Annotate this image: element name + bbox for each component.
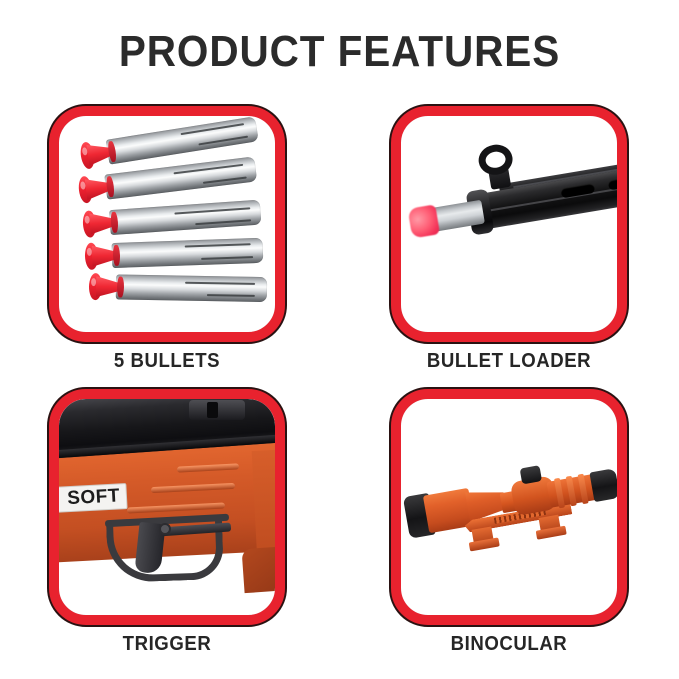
dart-tip-highlight bbox=[87, 248, 92, 256]
bullet-loader-illustration bbox=[401, 116, 617, 332]
dart-tip-ring bbox=[113, 245, 121, 266]
card-frame-trigger: SOFT bbox=[48, 388, 286, 626]
feature-label-bullets: 5 BULLETS bbox=[56, 350, 277, 373]
dart-suction-tip bbox=[85, 243, 120, 269]
feature-card-trigger[interactable]: SOFT TRIGGER bbox=[48, 388, 286, 656]
trigger-pivot-pin bbox=[159, 523, 171, 535]
binocular-illustration bbox=[401, 399, 617, 615]
feature-label-binocular: BINOCULAR bbox=[398, 633, 619, 656]
product-features-infographic: PRODUCT FEATURES bbox=[0, 0, 679, 679]
dart-shaft bbox=[116, 274, 267, 302]
dart-icon bbox=[85, 238, 264, 269]
card-inner-bullet-loader bbox=[401, 116, 617, 332]
trigger-illustration: SOFT bbox=[59, 399, 275, 615]
gun-bolt-notch bbox=[207, 402, 218, 418]
feature-card-bullet-loader[interactable]: BULLET LOADER bbox=[390, 105, 628, 373]
dart-suction-tip bbox=[79, 139, 116, 169]
card-frame-bullets bbox=[48, 105, 286, 343]
front-sight-ring-icon bbox=[476, 142, 514, 177]
dart-shaft bbox=[109, 200, 261, 235]
feature-card-binocular[interactable]: BINOCULAR bbox=[390, 388, 628, 656]
feature-label-bullet-loader: BULLET LOADER bbox=[398, 350, 619, 373]
soft-label-text: SOFT bbox=[67, 485, 121, 510]
feature-card-bullets[interactable]: 5 BULLETS bbox=[48, 105, 286, 373]
dart-suction-tip bbox=[77, 174, 114, 203]
rifle-scope-group bbox=[402, 452, 617, 551]
dart-icon bbox=[89, 274, 267, 302]
card-inner-trigger: SOFT bbox=[59, 399, 275, 615]
dart-tip-ring bbox=[117, 276, 124, 297]
dart-icon bbox=[82, 200, 261, 237]
soft-label-sticker: SOFT bbox=[59, 483, 128, 513]
bullets-illustration bbox=[59, 116, 275, 332]
barrel-group bbox=[402, 148, 617, 270]
feature-grid: 5 BULLETS bbox=[48, 105, 631, 650]
feature-label-trigger: TRIGGER bbox=[56, 633, 277, 656]
card-inner-bullets bbox=[59, 116, 275, 332]
gun-grip-shadow bbox=[242, 545, 275, 593]
loaded-dart-tip bbox=[408, 204, 441, 238]
dart-suction-tip bbox=[89, 274, 123, 300]
scope-eyepiece-lens-cap bbox=[589, 468, 617, 502]
page-title: PRODUCT FEATURES bbox=[27, 30, 652, 74]
dart-suction-tip bbox=[82, 210, 118, 237]
card-inner-binocular bbox=[401, 399, 617, 615]
card-frame-bullet-loader bbox=[390, 105, 628, 343]
dart-shaft bbox=[112, 238, 264, 268]
card-frame-binocular bbox=[390, 388, 628, 626]
